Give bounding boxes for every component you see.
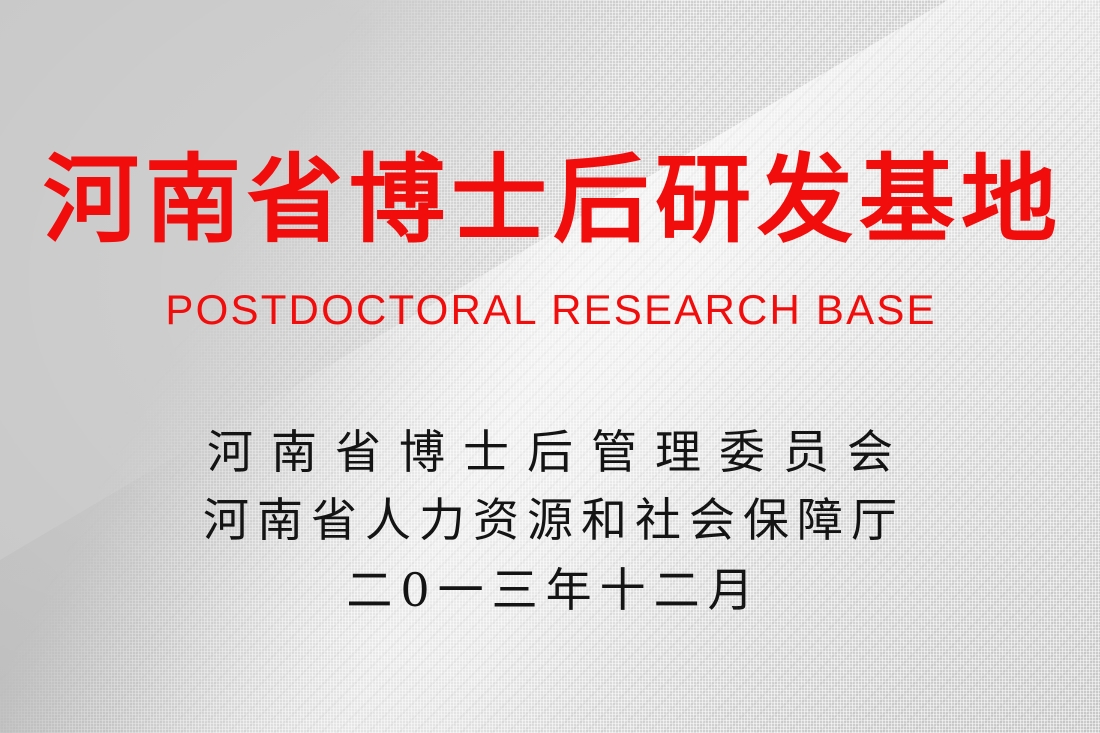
plaque-issuer-line-2: 河南省人力资源和社会保障厅 — [0, 486, 1100, 554]
plaque-issuer-line-1: 河南省博士后管理委员会 — [0, 418, 1100, 486]
plaque-issuer-block: 河南省博士后管理委员会 河南省人力资源和社会保障厅 二0一三年十二月 — [0, 418, 1100, 624]
plaque-issue-date: 二0一三年十二月 — [0, 556, 1100, 624]
plaque-title-english: POSTDOCTORAL RESEARCH BASE — [0, 289, 1100, 331]
plaque-content: 河南省博士后研发基地 POSTDOCTORAL RESEARCH BASE 河南… — [0, 0, 1100, 733]
plaque-title-chinese: 河南省博士后研发基地 — [0, 152, 1100, 248]
postdoctoral-research-base-plaque: 河南省博士后研发基地 POSTDOCTORAL RESEARCH BASE 河南… — [0, 0, 1100, 733]
